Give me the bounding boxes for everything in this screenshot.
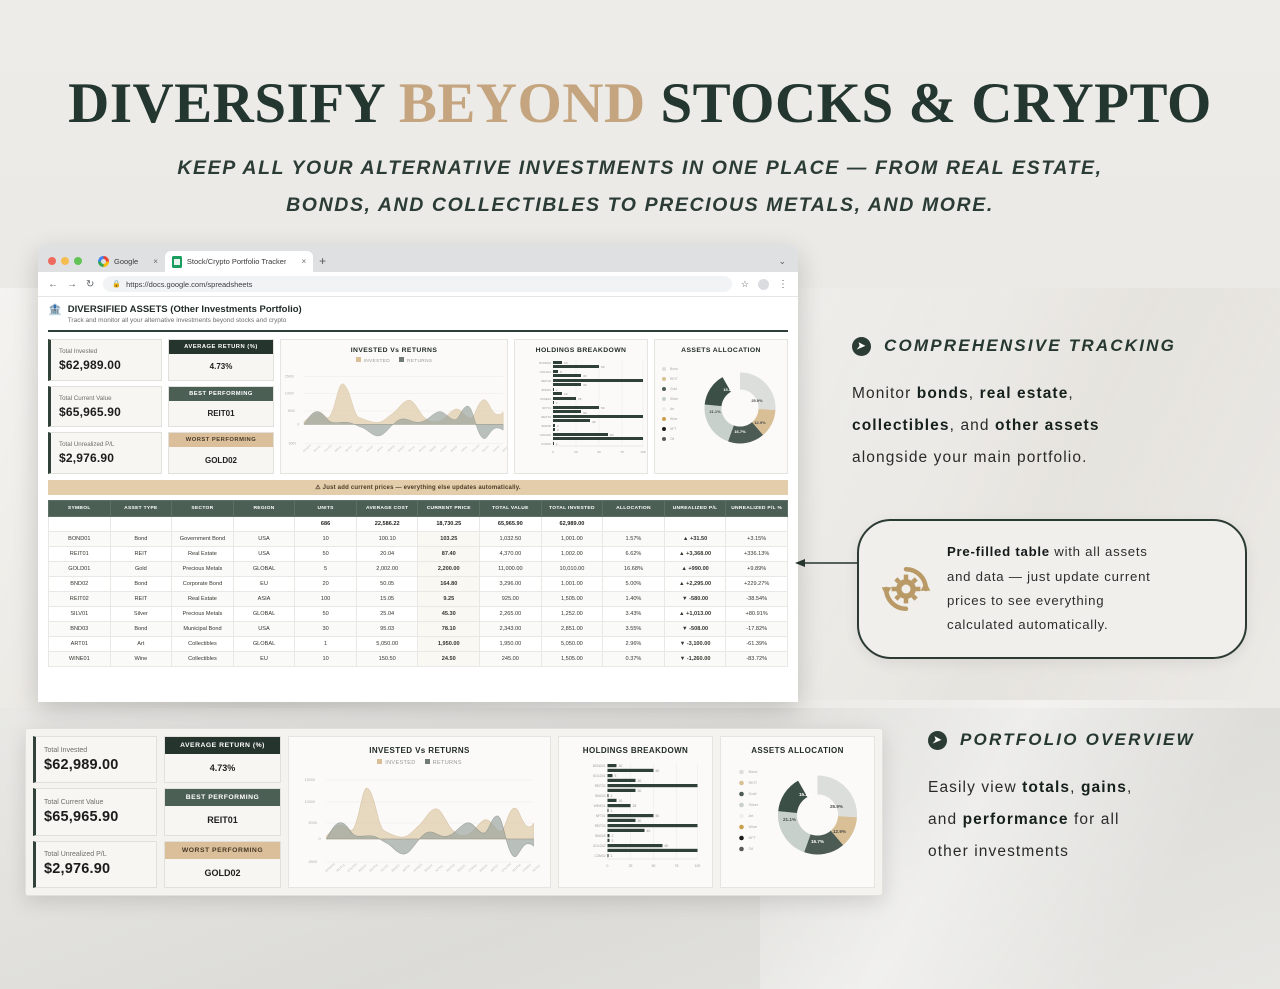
col-allocation: ALLOCATION [603,501,665,517]
svg-text:Oil: Oil [749,847,754,851]
svg-text:2: 2 [612,834,614,838]
chart-title: INVESTED Vs RETURNS [281,340,507,354]
text-frag: Monitor [852,385,917,402]
performance-column: AVERAGE RETURN (%) 4.73% BEST PERFORMING… [168,339,274,474]
svg-text:ART01: ART01 [376,445,384,453]
cell-allocation: 1.57% [603,532,665,547]
text-frag: Easily view [928,779,1022,796]
text-strong: Pre-filled table [947,544,1050,559]
back-icon[interactable]: ← [48,279,58,290]
svg-text:75: 75 [620,450,624,454]
chevron-right-icon: ➤ [928,731,947,750]
annotation-body: Monitor bonds, real estate, collectibles… [852,378,1252,474]
kpi-total-unrealized-pl: Total Unrealized P/L $2,976.90 [33,841,157,888]
svg-text:Silver: Silver [670,397,679,401]
page-title: DIVERSIFY BEYOND STOCKS & CRYPTO [0,74,1280,134]
svg-text:COM02: COM02 [521,863,532,873]
cell-symbol: REIT02 [49,592,111,607]
svg-text:50: 50 [656,769,660,773]
svg-text:Wine: Wine [749,825,758,829]
cell-unrealized-pl-pct: +336.13% [726,547,788,562]
svg-text:SILV01: SILV01 [379,863,389,873]
svg-text:10: 10 [564,361,568,365]
cell-current-price[interactable]: 9.25 [418,592,480,607]
cell-allocation: 0.37% [603,652,665,667]
cell-total-value: 11,000.00 [480,562,542,577]
table-row[interactable]: WINE01WineCollectiblesEU10150.5024.50245… [49,652,788,667]
minimize-window-icon[interactable] [61,257,69,265]
cell-asset-type: REIT [110,592,172,607]
svg-text:25: 25 [633,804,637,808]
kpi-total-current-value: Total Current Value $65,965.90 [48,386,162,428]
close-window-icon[interactable] [48,257,56,265]
svg-text:BND03: BND03 [390,863,400,873]
close-icon[interactable]: × [301,257,306,266]
sheets-icon [172,256,182,268]
svg-text:Gold: Gold [670,387,677,391]
svg-text:25.9%: 25.9% [751,398,763,403]
cell-symbol: BOND01 [49,532,111,547]
card-header: AVERAGE RETURN (%) [165,737,280,754]
annotation-body: Easily view totals, gains, and performan… [928,772,1258,868]
area-chart-svg: 1500010000 50000-5000 BOND01 REIT01 GOLD… [289,766,550,876]
cell-total-value: 245.00 [480,652,542,667]
svg-text:COM02: COM02 [541,442,551,446]
sheet-title: DIVERSIFIED ASSETS (Other Investments Po… [68,304,302,315]
col-current-price: CURRENT PRICE [418,501,480,517]
cell-allocation: 3.43% [603,607,665,622]
totals-cell-8: 62,989.00 [541,517,603,532]
cell-unrealized-pl: ▲ +990.00 [664,562,726,577]
chart-title: HOLDINGS BREAKDOWN [515,340,647,354]
cell-region: GLOBAL [233,637,295,652]
text-frag: alongside your main portfolio. [852,442,1252,474]
kpi-value: $62,989.00 [59,358,153,372]
sheet-note-banner: ⚠ Just add current prices — everything e… [48,480,788,495]
cell-units: 50 [295,547,357,562]
cell-average-cost: 150.50 [356,652,418,667]
svg-text:50: 50 [601,365,605,369]
text-frag: prices to see everything [947,593,1104,608]
col-units: UNITS [295,501,357,517]
chart-holdings-breakdown: HOLDINGS BREAKDOWN 1050 530 [558,736,713,888]
subtitle-line-1: KEEP ALL YOUR ALTERNATIVE INVESTMENTS IN… [90,150,1190,187]
bar-chart-svg: 1050 530 301 1025 150 3040 22 601 BOND01… [559,755,712,877]
cell-unrealized-pl: ▼ -508.00 [664,622,726,637]
table-body: 68622,586.2218,730.2565,965.9062,989.00B… [49,517,788,667]
totals-cell-6: 18,730.25 [418,517,480,532]
cell-unrealized-pl: ▼ -1,260.00 [664,652,726,667]
cell-region: EU [233,652,295,667]
chart-assets-allocation: ASSETS ALLOCATION Bond REIT Gold Silver … [654,339,788,474]
svg-text:5: 5 [615,774,617,778]
svg-text:GOLD02: GOLD02 [540,433,552,437]
svg-text:0: 0 [319,837,321,841]
cell-current-price[interactable]: 45.30 [418,607,480,622]
close-icon[interactable]: × [153,257,158,266]
cell-total-value: 3,296.00 [480,577,542,592]
text-strong: bonds [917,385,969,402]
cell-total-invested: 1,002.00 [541,547,603,562]
headline-part-1: DIVERSIFY [68,72,399,135]
legend-swatch [356,357,361,362]
svg-text:BND05: BND05 [595,834,606,838]
table-row[interactable]: BND02BondCorporate BondEU2050.05164.803,… [49,577,788,592]
svg-text:NFT: NFT [749,836,757,840]
svg-text:BND05: BND05 [429,445,437,453]
svg-text:100: 100 [695,864,701,868]
text-strong: collectibles [852,417,950,434]
slice-label: 15.2% [799,792,812,797]
cell-sector: Real Estate [172,547,234,562]
dashboard-cards-row: Total Invested $62,989.00 Total Current … [48,339,788,474]
cell-sector: Corporate Bond [172,577,234,592]
totals-cell-3 [233,517,295,532]
cell-total-value: 4,370.00 [480,547,542,562]
svg-text:REIT03: REIT03 [595,824,606,828]
card-average-return: AVERAGE RETURN (%) 4.73% [168,339,274,381]
window-controls[interactable] [46,257,91,272]
cell-average-cost: 25.04 [356,607,418,622]
svg-text:BND03: BND03 [366,445,374,453]
spreadsheet-content: 🏦 DIVERSIFIED ASSETS (Other Investments … [38,297,798,702]
slice-label: 25.9% [830,804,843,809]
table-row[interactable]: REIT02REITReal EstateASIA10015.059.25925… [49,592,788,607]
svg-text:ART01: ART01 [401,863,411,872]
svg-text:Wine: Wine [670,417,678,421]
svg-text:BOND01: BOND01 [303,444,313,453]
chart-title: HOLDINGS BREAKDOWN [559,737,712,755]
col-asset-type: ASSET TYPE [110,501,172,517]
svg-text:WINE01: WINE01 [387,444,396,453]
card-worst-performing: WORST PERFORMING GOLD02 [164,841,281,888]
table-row[interactable]: GOLD01GoldPrecious MetalsGLOBAL52,002.00… [49,562,788,577]
cell-unrealized-pl: ▲ +31.50 [664,532,726,547]
portfolio-overview-strip: Total Invested $62,989.00 Total Current … [25,728,883,896]
cell-sector: Government Bond [172,532,234,547]
cell-region: EU [233,577,295,592]
cell-asset-type: Bond [110,622,172,637]
svg-text:50: 50 [652,864,656,868]
kpi-label: Total Current Value [59,395,153,402]
cell-symbol: WINE01 [49,652,111,667]
annotation-title: COMPREHENSIVE TRACKING [884,336,1176,356]
address-input[interactable]: 🔒 https://docs.google.com/spreadsheets [103,276,732,292]
svg-text:15000: 15000 [285,374,294,378]
svg-text:40: 40 [592,420,596,424]
bar-chart-svg: 1050 530 301 1025 150 3040 22 601 BOND01… [515,354,647,462]
cell-total-invested: 1,001.00 [541,577,603,592]
chart-invested-vs-returns: INVESTED Vs RETURNS INVESTED RETURNS 150… [288,736,551,888]
gear-refresh-icon [879,562,933,616]
cell-units: 5 [295,562,357,577]
kpi-value: $2,976.90 [44,861,148,877]
cell-allocation: 1.40% [603,592,665,607]
legend-swatch [399,357,404,362]
menu-kebab-icon[interactable]: ⋮ [778,279,788,290]
col-sector: SECTOR [172,501,234,517]
bank-icon: 🏦 [48,304,62,316]
svg-text:Bond: Bond [749,770,758,774]
svg-text:BND04: BND04 [423,863,433,873]
totals-cell-11 [726,517,788,532]
cell-sector: Collectibles [172,637,234,652]
content-fade [38,676,798,702]
cell-unrealized-pl-pct: +80.91% [726,607,788,622]
svg-text:REIT02: REIT02 [368,863,378,873]
svg-text:10: 10 [619,799,623,803]
text-frag: calculated automatically. [947,617,1108,632]
cell-unrealized-pl: ▲ +2,295.00 [664,577,726,592]
cell-current-price[interactable]: 78.10 [418,622,480,637]
chart-title: ASSETS ALLOCATION [721,737,874,755]
card-value: 4.73% [169,354,273,380]
sheet-subtitle: Track and monitor all your alternative i… [68,317,302,324]
annotation-heading: ➤ PORTFOLIO OVERVIEW [928,730,1258,750]
cell-asset-type: Wine [110,652,172,667]
card-header: WORST PERFORMING [165,842,280,859]
legend-item-returns: RETURNS [425,759,462,766]
cell-current-price[interactable]: 1,950.00 [418,637,480,652]
cell-total-invested: 1,505.00 [541,592,603,607]
svg-text:16.7%: 16.7% [734,429,746,434]
annotation-title: PORTFOLIO OVERVIEW [960,730,1195,750]
svg-text:NFT01: NFT01 [408,445,416,453]
svg-text:30: 30 [638,779,642,783]
cell-sector: Real Estate [172,592,234,607]
browser-tab-portfolio-tracker[interactable]: Stock/Crypto Portfolio Tracker × [165,251,313,272]
svg-text:REIT: REIT [670,377,678,381]
col-symbol: SYMBOL [49,501,111,517]
svg-text:Silver: Silver [749,803,759,807]
cell-unrealized-pl-pct: +3.15% [726,532,788,547]
google-icon [98,256,109,267]
cell-region: USA [233,532,295,547]
legend-item-invested: INVESTED [356,357,390,364]
cell-average-cost: 20.04 [356,547,418,562]
totals-cell-7: 65,965.90 [480,517,542,532]
text-frag: for all [1069,811,1120,828]
kpi-column: Total Invested $62,989.00 Total Current … [33,736,157,888]
browser-window: Google × Stock/Crypto Portfolio Tracker … [38,245,798,702]
cell-asset-type: REIT [110,547,172,562]
svg-text:COM01: COM01 [467,863,478,873]
text-frag: , and [950,417,995,434]
maximize-window-icon[interactable] [74,257,82,265]
svg-text:30: 30 [583,383,587,387]
annotation-heading: ➤ COMPREHENSIVE TRACKING [852,336,1252,356]
svg-text:REIT: REIT [749,781,758,785]
donut-chart-svg: Bond REIT Gold Silver Art Wine NFT Oil 2… [721,755,874,877]
svg-text:75: 75 [675,864,679,868]
card-worst-performing: WORST PERFORMING GOLD02 [168,432,274,474]
svg-text:COM02: COM02 [595,854,606,858]
tab-label: Stock/Crypto Portfolio Tracker [187,257,287,266]
cell-average-cost: 15.05 [356,592,418,607]
cell-current-price[interactable]: 87.40 [418,547,480,562]
cell-unrealized-pl-pct: -83.72% [726,652,788,667]
cell-current-price[interactable]: 24.50 [418,652,480,667]
cell-current-price[interactable]: 164.80 [418,577,480,592]
table-row[interactable]: REIT01REITReal EstateUSA5020.0487.404,37… [49,547,788,562]
forward-icon[interactable]: → [67,279,77,290]
svg-text:10: 10 [564,392,568,396]
cell-asset-type: Bond [110,577,172,592]
reload-icon[interactable]: ↻ [86,279,94,290]
cell-current-price[interactable]: 103.25 [418,532,480,547]
totals-cell-4: 686 [295,517,357,532]
svg-text:15.2%: 15.2% [723,387,735,392]
cell-region: GLOBAL [233,562,295,577]
cell-unrealized-pl-pct: +9.89% [726,562,788,577]
cell-symbol: REIT01 [49,547,111,562]
cell-sector: Municipal Bond [172,622,234,637]
svg-text:GOLD01: GOLD01 [346,862,358,873]
kpi-value: $65,965.90 [59,405,153,419]
svg-text:SILV01: SILV01 [355,445,363,453]
cell-asset-type: Art [110,637,172,652]
svg-text:BOND01: BOND01 [324,862,336,873]
cell-units: 1 [295,637,357,652]
svg-text:Bond: Bond [670,367,678,371]
cell-total-value: 2,265.00 [480,607,542,622]
svg-text:GOLD02: GOLD02 [593,844,606,848]
svg-text:10000: 10000 [285,392,294,396]
table-row[interactable]: SILV01SilverPrecious MetalsGLOBAL5025.04… [49,607,788,622]
svg-text:1: 1 [556,401,558,405]
cell-asset-type: Gold [110,562,172,577]
cell-allocation: 2.96% [603,637,665,652]
svg-text:10000: 10000 [305,800,316,804]
kpi-total-invested: Total Invested $62,989.00 [48,339,162,381]
svg-text:2: 2 [557,428,559,432]
browser-tab-bar: Google × Stock/Crypto Portfolio Tracker … [38,245,798,272]
divider [48,330,788,332]
cell-region: ASIA [233,592,295,607]
kpi-value: $65,965.90 [44,809,148,825]
card-header: BEST PERFORMING [165,789,280,806]
card-header: WORST PERFORMING [169,433,273,447]
svg-text:15000: 15000 [305,778,316,782]
svg-text:BOND01: BOND01 [593,764,606,768]
text-strong: performance [963,811,1069,828]
svg-text:50: 50 [597,450,601,454]
chevron-down-icon[interactable]: ⌄ [778,256,786,267]
cell-allocation: 6.62% [603,547,665,562]
col-region: REGION [233,501,295,517]
svg-text:GOLD01: GOLD01 [540,370,552,374]
table-row[interactable]: ART01ArtCollectiblesGLOBAL15,050.001,950… [49,637,788,652]
annotation-comprehensive-tracking: ➤ COMPREHENSIVE TRACKING Monitor bonds, … [852,336,1252,474]
bookmark-star-icon[interactable]: ☆ [741,279,749,290]
new-tab-button[interactable]: + [313,254,334,272]
card-value: REIT01 [169,401,273,427]
svg-text:Oil: Oil [670,437,674,441]
cell-allocation: 5.00% [603,577,665,592]
svg-text:1: 1 [556,388,558,392]
svg-text:BND04: BND04 [397,445,405,453]
svg-text:ART02: ART02 [489,863,499,872]
svg-text:BND02: BND02 [357,863,367,873]
card-header: AVERAGE RETURN (%) [169,340,273,354]
totals-cell-10 [664,517,726,532]
svg-text:30: 30 [583,374,587,378]
svg-text:NFT01: NFT01 [542,406,551,410]
svg-text:25: 25 [578,397,582,401]
cell-average-cost: 5,050.00 [356,637,418,652]
svg-text:5: 5 [560,370,562,374]
svg-text:25: 25 [629,864,633,868]
card-value: GOLD02 [169,447,273,473]
chart-legend: INVESTED RETURNS [281,357,507,364]
cell-asset-type: Bond [110,532,172,547]
table-row[interactable]: BOND01BondGovernment BondUSA10100.10103.… [49,532,788,547]
cell-asset-type: Silver [110,607,172,622]
svg-text:GOLD02: GOLD02 [500,862,512,873]
cell-region: USA [233,547,295,562]
annotation-portfolio-overview: ➤ PORTFOLIO OVERVIEW Easily view totals,… [928,730,1258,868]
kpi-label: Total Invested [44,747,148,754]
totals-cell-9 [603,517,665,532]
card-average-return: AVERAGE RETURN (%) 4.73% [164,736,281,783]
svg-text:REIT01: REIT01 [313,445,322,453]
svg-text:100: 100 [640,450,645,454]
svg-text:REIT01: REIT01 [335,863,345,873]
chart-holdings-breakdown: HOLDINGS BREAKDOWN [514,339,648,474]
svg-text:30: 30 [638,819,642,823]
performance-column: AVERAGE RETURN (%) 4.73% BEST PERFORMING… [164,736,281,888]
cell-unrealized-pl-pct: -17.82% [726,622,788,637]
card-header: BEST PERFORMING [169,387,273,401]
col-average-cost: AVERAGE COST [356,501,418,517]
svg-text:BND03: BND03 [542,388,552,392]
kpi-label: Total Current Value [44,799,148,806]
svg-text:Art: Art [749,814,755,818]
cell-units: 10 [295,532,357,547]
slice-label: 21.1% [783,817,796,822]
svg-text:0: 0 [297,422,299,426]
cell-unrealized-pl: ▼ -3,100.00 [664,637,726,652]
browser-tab-google[interactable]: Google × [91,251,165,272]
cell-total-invested: 1,252.00 [541,607,603,622]
text-frag: and data — just update current [947,569,1151,584]
cell-total-invested: 5,050.00 [541,637,603,652]
avatar[interactable] [758,279,769,290]
col-total-value: TOTAL VALUE [480,501,542,517]
cell-total-invested: 1,001.00 [541,532,603,547]
cell-unrealized-pl-pct: +229.27% [726,577,788,592]
cell-units: 10 [295,652,357,667]
cell-units: 30 [295,622,357,637]
svg-text:10: 10 [619,764,623,768]
card-value: REIT01 [165,806,280,834]
cell-unrealized-pl-pct: -38.54% [726,592,788,607]
table-header-row: SYMBOL ASSET TYPE SECTOR REGION UNITS AV… [49,501,788,517]
svg-text:REIT03: REIT03 [419,445,428,453]
svg-text:REIT02: REIT02 [595,784,606,788]
table-row[interactable]: BND03BondMunicipal BondUSA3095.0378.102,… [49,622,788,637]
svg-text:50: 50 [601,406,605,410]
svg-text:WINE01: WINE01 [540,397,551,401]
totals-cell-2 [172,517,234,532]
donut-chart-svg: Bond REIT Gold Silver Art Wine NFT Oil [655,354,787,462]
headline-part-2: STOCKS & CRYPTO [646,72,1212,135]
cell-current-price[interactable]: 2,200.00 [418,562,480,577]
kpi-column: Total Invested $62,989.00 Total Current … [48,339,162,474]
svg-text:60: 60 [610,433,614,437]
svg-text:0: 0 [607,864,609,868]
totals-cell-1 [110,517,172,532]
